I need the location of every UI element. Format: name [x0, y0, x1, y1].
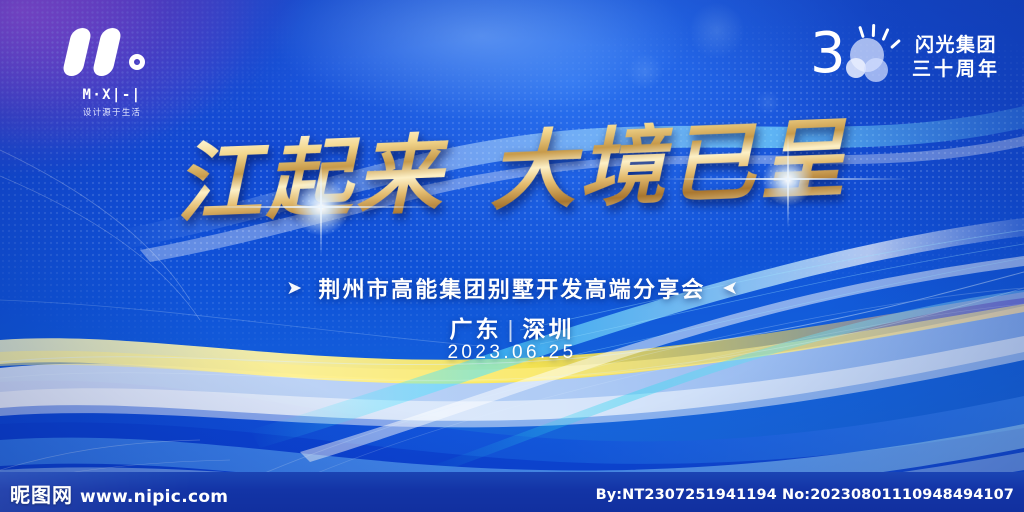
anniversary-text: 闪光集团 三十周年 [912, 35, 1000, 82]
event-date: 2023.06.25 [0, 342, 1024, 364]
logo-ring-icon [129, 54, 145, 70]
flash-blob-mid [864, 58, 888, 82]
anniversary-years: 三十周年 [912, 59, 1000, 81]
flash-blob-small [846, 58, 866, 78]
flash-ray-3 [881, 28, 889, 41]
moxihi-m-logo-icon [53, 26, 171, 80]
logo-bar-left [61, 28, 92, 76]
watermark-url: www.nipic.com [80, 489, 228, 506]
flash-burst-icon: 3 [810, 28, 902, 88]
anniversary-company: 闪光集团 [912, 35, 1000, 57]
main-title-gap [446, 202, 490, 204]
event-location: 广东|深圳 [0, 310, 1024, 344]
arrow-left-glyph-icon: ➤ [720, 277, 738, 300]
arrow-right-glyph-icon: ➤ [286, 277, 304, 300]
main-title-part1: 江起来 [173, 124, 447, 235]
anniversary-badge: 3 闪光集团 三十周年 [810, 28, 1000, 88]
footer-asset-code: By:NT2307251941194 No:202308011109484941… [596, 487, 1014, 503]
site-watermark: 昵图网 www.nipic.com [10, 486, 228, 506]
flash-ray-4 [890, 39, 901, 49]
watermark-cn-name: 昵图网 [10, 486, 73, 506]
brand-wordmark: M·X|-| [52, 87, 172, 103]
logo-bar-right [91, 28, 122, 76]
main-title: 江起来大境已呈 [174, 115, 851, 229]
event-province: 广东 [450, 316, 502, 342]
main-title-part2: 大境已呈 [487, 108, 851, 223]
footer-bar: 昵图网 www.nipic.com By:NT2307251941194 No:… [0, 472, 1024, 512]
poster-canvas: M·X|-| 设计源于生活 3 闪光集团 三十周年 江起来大境已呈 [0, 0, 1024, 512]
flash-ray-1 [858, 26, 865, 38]
brand-logo: M·X|-| 设计源于生活 [52, 26, 172, 118]
event-city: 深圳 [522, 316, 574, 342]
event-subtitle: ➤ 荆州市高能集团别墅开发高端分享会 ➤ [0, 272, 1024, 304]
location-divider: | [508, 316, 517, 342]
anniversary-number: 3 [810, 26, 846, 82]
event-subtitle-text: 荆州市高能集团别墅开发高端分享会 [318, 272, 705, 304]
brand-tagline: 设计源于生活 [52, 106, 172, 118]
main-title-wrapper: 江起来大境已呈 [0, 128, 1024, 216]
flash-ray-2 [872, 24, 875, 37]
